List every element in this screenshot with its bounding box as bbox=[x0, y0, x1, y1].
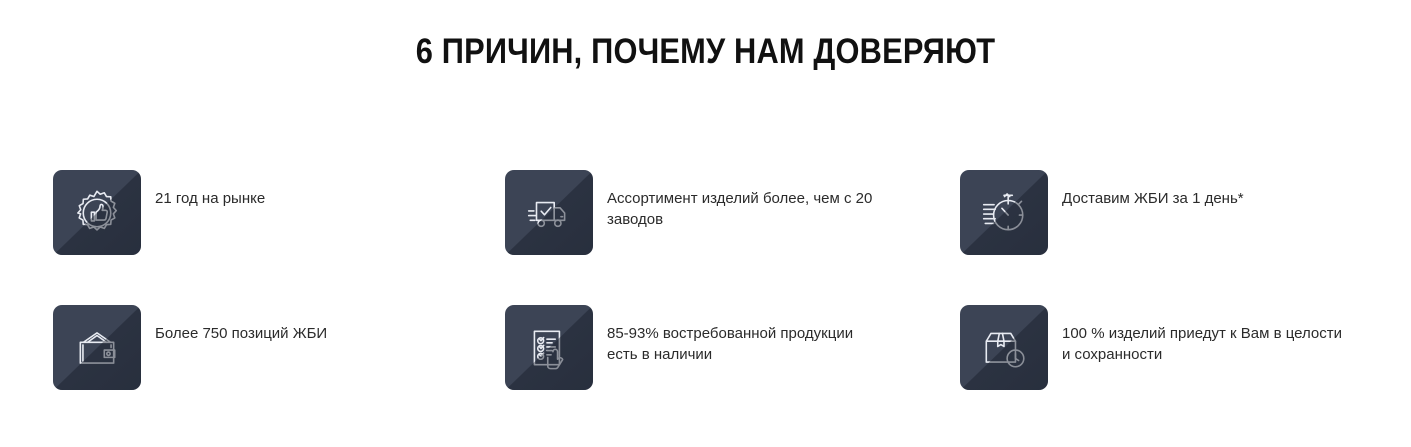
benefit-item: Более 750 позиций ЖБИ bbox=[53, 305, 505, 440]
benefit-line-1: 85-93% востребованной продукции bbox=[607, 325, 853, 342]
benefit-text: Ассортимент изделий более, чем с 20 заво… bbox=[607, 170, 872, 230]
benefit-icon-tile bbox=[505, 170, 593, 255]
benefit-icon-tile bbox=[960, 170, 1048, 255]
stopwatch-speed-icon bbox=[979, 188, 1029, 238]
benefit-item: 100 % изделий приедут к Вам в целости и … bbox=[960, 305, 1373, 440]
benefits-section: 6 ПРИЧИН, ПОЧЕМУ НАМ ДОВЕРЯЮТ 21 год на … bbox=[0, 0, 1411, 447]
checklist-hand-icon bbox=[524, 323, 574, 373]
benefit-line-1: Более 750 позиций ЖБИ bbox=[155, 325, 327, 342]
benefit-item: 85-93% востребованной продукции есть в н… bbox=[505, 305, 960, 440]
delivery-truck-check-icon bbox=[524, 188, 574, 238]
benefit-item: 21 год на рынке bbox=[53, 170, 505, 305]
benefit-text: 21 год на рынке bbox=[155, 170, 265, 209]
benefit-text: Более 750 позиций ЖБИ bbox=[155, 305, 327, 344]
page-title: 6 ПРИЧИН, ПОЧЕМУ НАМ ДОВЕРЯЮТ bbox=[85, 32, 1327, 72]
wallet-money-icon bbox=[72, 323, 122, 373]
benefit-text: Доставим ЖБИ за 1 день* bbox=[1062, 170, 1244, 209]
benefit-icon-tile bbox=[53, 305, 141, 390]
benefit-text: 100 % изделий приедут к Вам в целости и … bbox=[1062, 305, 1342, 365]
benefit-text: 85-93% востребованной продукции есть в н… bbox=[607, 305, 853, 365]
benefit-icon-tile bbox=[505, 305, 593, 390]
benefit-line-2: и сохранности bbox=[1062, 344, 1342, 365]
benefit-line-1: 21 год на рынке bbox=[155, 190, 265, 207]
benefits-grid: 21 год на рынке Ассортимент изделий bbox=[53, 170, 1373, 440]
benefit-line-2: есть в наличии bbox=[607, 344, 853, 365]
benefit-line-1: Ассортимент изделий более, чем с 20 bbox=[607, 190, 872, 207]
thumbs-up-badge-icon bbox=[72, 188, 122, 238]
package-clock-icon bbox=[979, 323, 1029, 373]
benefit-item: Ассортимент изделий более, чем с 20 заво… bbox=[505, 170, 960, 305]
benefit-line-1: 100 % изделий приедут к Вам в целости bbox=[1062, 325, 1342, 342]
benefit-icon-tile bbox=[53, 170, 141, 255]
benefit-item: Доставим ЖБИ за 1 день* bbox=[960, 170, 1373, 305]
benefit-line-2: заводов bbox=[607, 209, 872, 230]
benefit-icon-tile bbox=[960, 305, 1048, 390]
benefit-line-1: Доставим ЖБИ за 1 день* bbox=[1062, 190, 1244, 207]
